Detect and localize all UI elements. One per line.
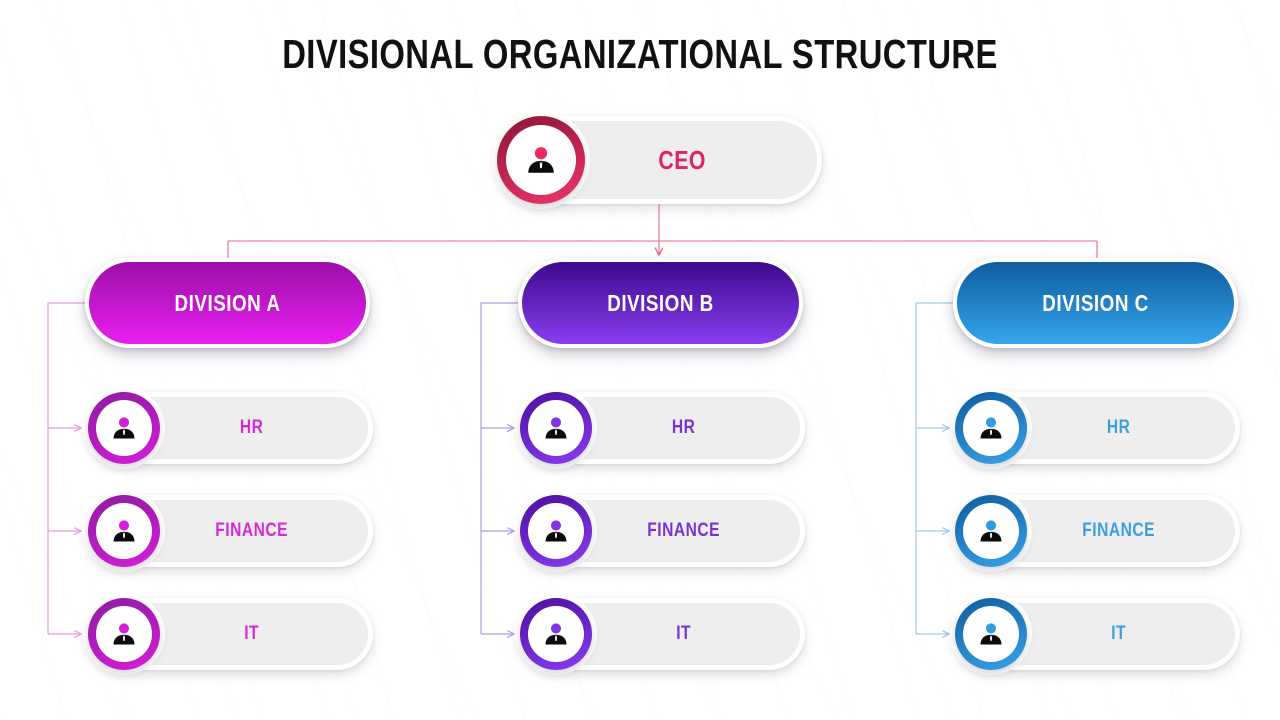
node-division-b-label: DIVISION B — [547, 290, 774, 317]
person-icon — [110, 620, 138, 648]
node-division-a-hr-label: HR — [191, 417, 351, 439]
node-division-c-finance-label: FINANCE — [1058, 520, 1218, 542]
avatar-division-b-it[interactable] — [520, 598, 592, 670]
person-icon — [110, 414, 138, 442]
avatar-division-c-it[interactable] — [955, 598, 1027, 670]
avatar-division-c-finance[interactable] — [955, 495, 1027, 567]
connector-ceo-to-divisions — [228, 204, 1097, 258]
connector-division-c — [916, 303, 953, 634]
person-icon — [542, 620, 570, 648]
node-division-a-label: DIVISION A — [114, 290, 341, 317]
person-icon — [542, 517, 570, 545]
person-icon — [542, 414, 570, 442]
node-division-b-hr-label: HR — [623, 417, 783, 439]
avatar-division-b-hr[interactable] — [520, 392, 592, 464]
node-division-b-finance-label: FINANCE — [623, 520, 783, 542]
node-division-a-it-label: IT — [191, 623, 351, 645]
avatar-division-a-it[interactable] — [88, 598, 160, 670]
node-division-c-hr-label: HR — [1058, 417, 1218, 439]
person-icon — [977, 620, 1005, 648]
connector-division-a — [48, 303, 85, 634]
person-icon — [977, 517, 1005, 545]
avatar-division-b-finance[interactable] — [520, 495, 592, 567]
avatar-division-c-hr[interactable] — [955, 392, 1027, 464]
node-division-a[interactable]: DIVISION A — [85, 258, 370, 348]
person-icon — [524, 143, 558, 177]
node-division-c-label: DIVISION C — [982, 290, 1209, 317]
person-icon — [110, 517, 138, 545]
node-ceo-label: CEO — [610, 145, 796, 176]
page-title: DIVISIONAL ORGANIZATIONAL STRUCTURE — [128, 31, 1152, 78]
avatar-division-a-finance[interactable] — [88, 495, 160, 567]
org-chart-canvas: DIVISIONAL ORGANIZATIONAL STRUCTURE — [0, 0, 1280, 720]
node-division-b[interactable]: DIVISION B — [518, 258, 803, 348]
node-division-c-it-label: IT — [1058, 623, 1218, 645]
node-division-c[interactable]: DIVISION C — [953, 258, 1238, 348]
node-division-b-it-label: IT — [623, 623, 783, 645]
person-icon — [977, 414, 1005, 442]
connector-division-b — [481, 303, 518, 634]
avatar-division-a-hr[interactable] — [88, 392, 160, 464]
avatar-ceo[interactable] — [497, 116, 585, 204]
node-division-a-finance-label: FINANCE — [191, 520, 351, 542]
